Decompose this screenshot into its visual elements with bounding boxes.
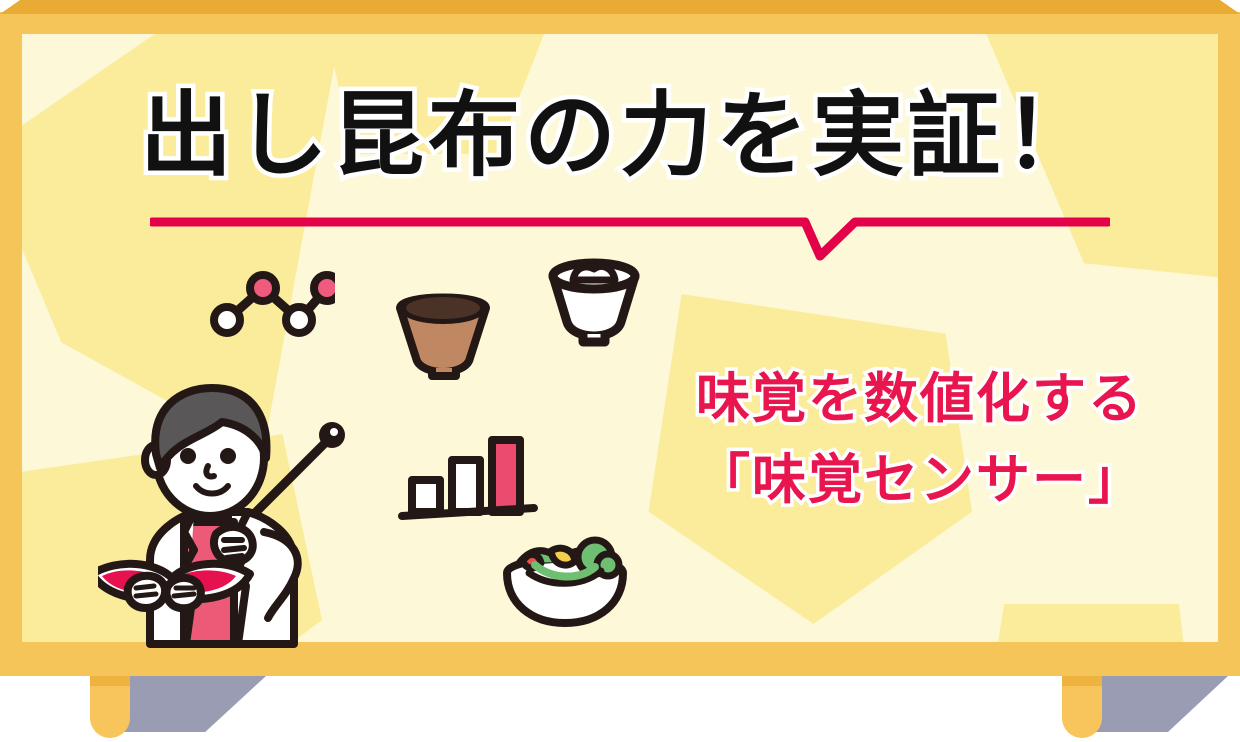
decor-polygon-lower-right — [972, 604, 1202, 642]
page-title: 出し昆布の力を実証！ — [0, 88, 1240, 185]
banner-subtitle-line-2: 「味覚センサー」 — [640, 439, 1200, 520]
bar-chart-icon — [398, 428, 538, 524]
researcher-illustration — [98, 382, 368, 652]
soup-bowl-icon — [388, 282, 498, 380]
board-leg-shadow-left — [106, 676, 266, 732]
line-chart-icon — [205, 262, 335, 342]
salad-bowl-icon — [495, 525, 635, 635]
rice-bowl-icon — [545, 252, 643, 348]
banner-subtitle: 味覚を数値化する 「味覚センサー」 — [640, 358, 1200, 520]
board-frame-top-edge — [0, 0, 1240, 14]
banner-root: 出し昆布の力を実証！ 味覚を数値化する 「味覚センサー」 — [0, 0, 1240, 742]
banner-subtitle-line-1: 味覚を数値化する — [640, 358, 1200, 439]
